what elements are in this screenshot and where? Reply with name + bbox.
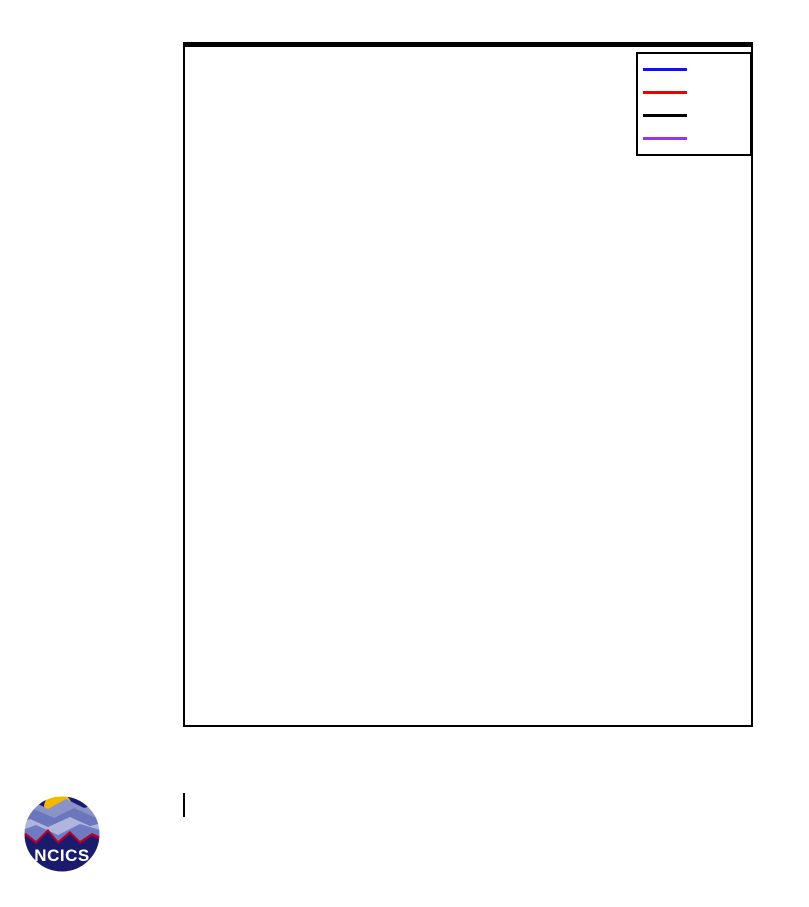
low-line-swatch <box>643 137 687 140</box>
mjo-line-swatch <box>643 114 687 117</box>
colorbar <box>183 793 753 817</box>
y-axis-labels <box>0 0 163 907</box>
legend-item-kelvin <box>643 58 745 81</box>
wave-legend <box>636 52 752 156</box>
er-line-swatch <box>643 91 687 94</box>
logo-text: NCICS <box>34 846 89 865</box>
legend-item-mjo <box>643 104 745 127</box>
kelvin-line-swatch <box>643 68 687 71</box>
colorbar-swatches <box>183 793 185 817</box>
begin-forecast-line <box>185 44 753 47</box>
legend-item-er <box>643 81 745 104</box>
ncics-logo: NCICS <box>14 795 110 873</box>
legend-item-low <box>643 127 745 150</box>
